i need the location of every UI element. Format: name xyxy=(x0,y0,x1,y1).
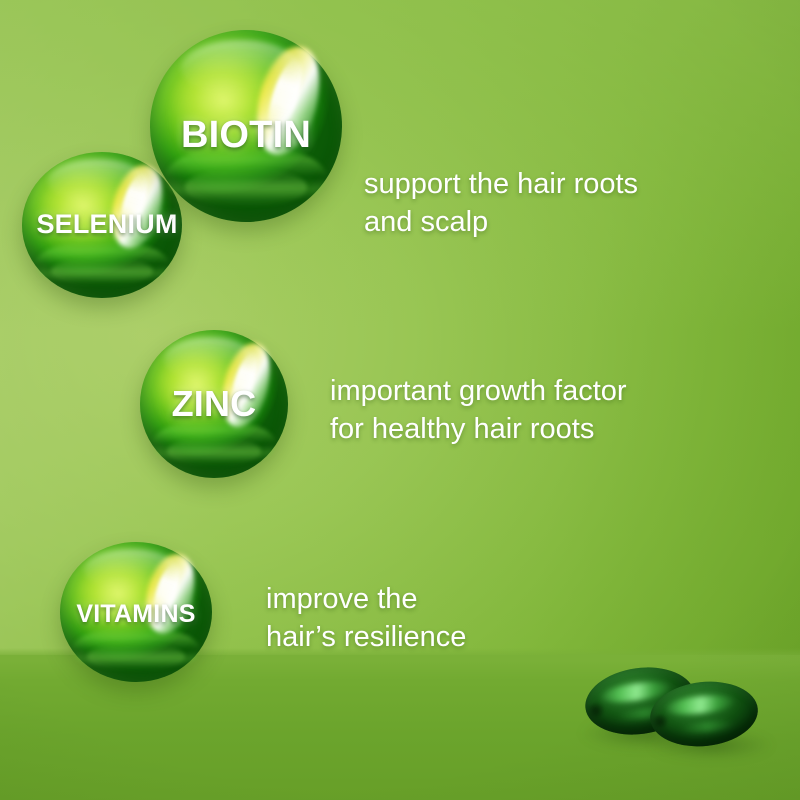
infographic-canvas: SELENIUM BIOTIN ZINC VITAMINS xyxy=(0,0,800,800)
sphere-rim-biotin xyxy=(150,30,342,222)
nutrient-sphere-zinc[interactable]: ZINC xyxy=(140,330,288,478)
nutrient-sphere-selenium[interactable]: SELENIUM xyxy=(22,152,182,298)
benefit-text-hair-roots-and-scalp: support the hair roots and scalp xyxy=(364,165,638,242)
nutrient-sphere-biotin[interactable]: BIOTIN xyxy=(150,30,342,222)
benefit-text-growth-factor: important growth factor for healthy hair… xyxy=(330,372,627,449)
benefit-text-hair-resilience: improve the hair’s resilience xyxy=(266,580,466,657)
sphere-rim-zinc xyxy=(140,330,288,478)
nutrient-sphere-vitamins[interactable]: VITAMINS xyxy=(60,542,212,682)
sphere-rim-selenium xyxy=(22,152,182,298)
sphere-rim-vitamins xyxy=(60,542,212,682)
